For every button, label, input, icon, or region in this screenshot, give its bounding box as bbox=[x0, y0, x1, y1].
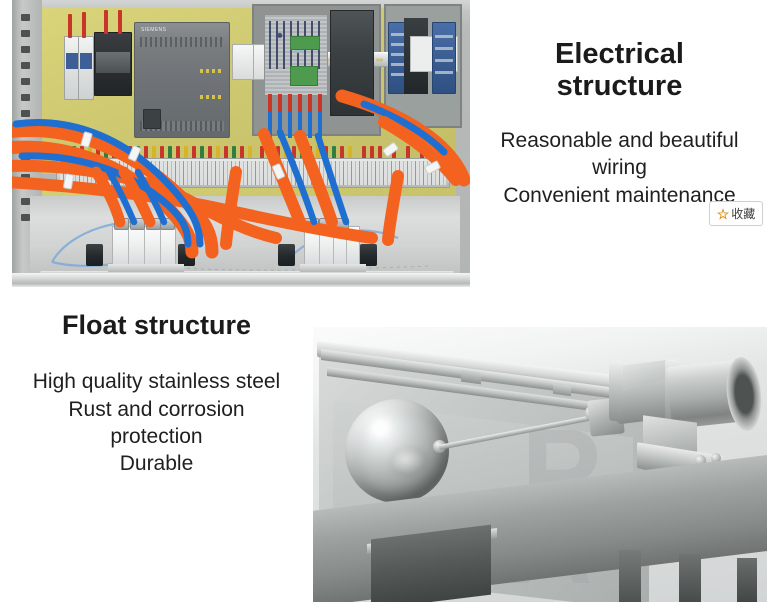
collect-badge-label: 收藏 bbox=[731, 208, 755, 220]
float-structure-photo: P A bbox=[313, 327, 767, 602]
electrical-structure-heading: Electrical structure bbox=[472, 38, 767, 103]
electrical-body-line2: wiring bbox=[592, 156, 647, 179]
star-icon: ☆ bbox=[717, 207, 730, 221]
electrical-body-line3: Convenient maintenance bbox=[503, 184, 735, 207]
electrical-structure-text-block: Electrical structure Reasonable and beau… bbox=[472, 38, 767, 209]
float-structure-text-block: Float structure High quality stainless s… bbox=[0, 310, 313, 477]
electrical-structure-body: Reasonable and beautiful wiring Convenie… bbox=[472, 127, 767, 209]
electrical-heading-line1: Electrical bbox=[555, 38, 684, 70]
tank-leg-2 bbox=[679, 554, 701, 602]
float-body-line2: Rust and corrosion bbox=[68, 398, 244, 421]
product-feature-page: SIEMENS bbox=[0, 0, 767, 602]
valve-flange-inlet bbox=[609, 361, 623, 421]
electrical-structure-photo: SIEMENS bbox=[12, 0, 470, 287]
cabinet-sill bbox=[12, 273, 470, 287]
float-structure-heading: Float structure bbox=[0, 310, 313, 340]
float-structure-body: High quality stainless steel Rust and co… bbox=[0, 368, 313, 477]
tank-leg-3 bbox=[737, 558, 757, 602]
float-ball bbox=[345, 399, 449, 503]
electrical-body-line1: Reasonable and beautiful bbox=[500, 129, 738, 152]
float-body-line1: High quality stainless steel bbox=[33, 370, 280, 393]
tank-sump-opening bbox=[371, 525, 491, 602]
float-body-line4: Durable bbox=[120, 452, 194, 475]
electrical-heading-line2: structure bbox=[557, 70, 683, 102]
collect-badge[interactable]: ☆ 收藏 bbox=[709, 201, 763, 226]
tank-leg-1 bbox=[619, 550, 641, 602]
float-body-line3: protection bbox=[110, 425, 202, 448]
